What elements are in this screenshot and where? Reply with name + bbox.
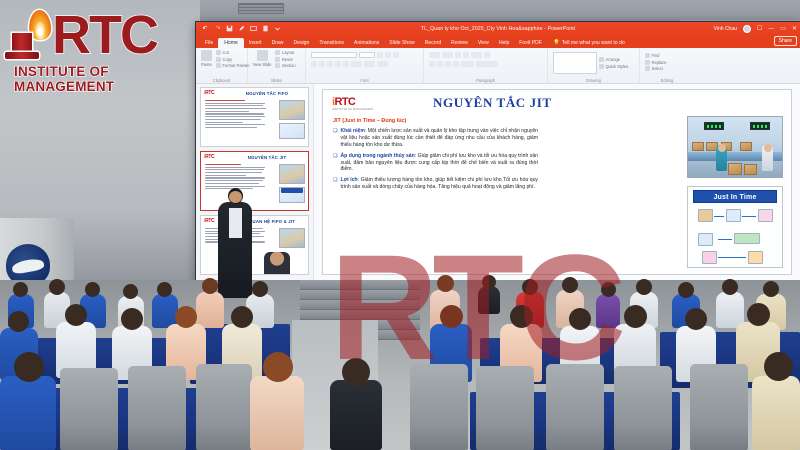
reset-icon: [275, 57, 280, 62]
ribbon-tab-bar[interactable]: File Home Insert Draw Design Transitions…: [196, 35, 800, 48]
paste-label: Paste: [201, 62, 211, 67]
brand-letters: RTC: [52, 8, 157, 62]
text-direction-button[interactable]: [484, 52, 490, 58]
thumb-text-lines: [205, 164, 267, 191]
irtc-logo: RTC INSTITUTE OF MANAGEMENT: [4, 6, 202, 84]
jit-arrow-4: [718, 257, 746, 258]
ribbon-group-slides[interactable]: New Slide Layout Reset Section Slides: [248, 48, 306, 83]
jit-node-supplier: [698, 209, 713, 222]
section-label: Section: [282, 63, 296, 68]
slide-logo: iRTC: [332, 96, 355, 108]
font-family-select[interactable]: [311, 52, 357, 58]
ribbon-group-font[interactable]: Font: [306, 48, 424, 83]
new-slide-label: New Slide: [253, 62, 271, 67]
thumb-jit-banner: [281, 188, 303, 193]
arrange-label: Arrange: [606, 57, 621, 62]
lightbulb-icon: 💡: [553, 40, 560, 46]
chair: [128, 366, 186, 450]
paste-button[interactable]: Paste: [201, 50, 212, 68]
thumb-logo: iRTC: [204, 218, 214, 224]
reset-button[interactable]: Reset: [275, 57, 295, 62]
align-center-button[interactable]: [437, 61, 443, 67]
chair: [614, 366, 672, 450]
powerpoint-title-bar: TL_Quan ly kho Oct_2025_Cty Vinh Hoa&sap…: [196, 22, 800, 35]
cut-label: Cut: [223, 50, 229, 55]
bullet-paragraph-2: ❏ Áp dụng trong ngành thủy sản: Giúp giả…: [333, 153, 538, 174]
find-label: Find: [652, 53, 660, 58]
layout-button[interactable]: Layout: [275, 50, 295, 55]
bullets-button[interactable]: [429, 52, 440, 58]
strikethrough-button[interactable]: [343, 61, 349, 67]
quick-styles-label: Quick Styles: [606, 64, 629, 69]
copy-label: Copy: [223, 57, 233, 62]
bullet-text: Khái niệm: Một chiến lược sản xuất và qu…: [340, 128, 538, 149]
find-button[interactable]: Find: [645, 53, 689, 58]
columns-button[interactable]: [461, 61, 474, 67]
tab-draw[interactable]: Draw: [267, 40, 289, 49]
tab-home[interactable]: Home: [218, 38, 244, 48]
shadow-button[interactable]: [335, 61, 341, 67]
group-label-font: Font: [306, 78, 423, 83]
thumb-presenter-overlay: [264, 252, 290, 274]
underline-button[interactable]: [327, 61, 333, 67]
ribbon-display-options-icon[interactable]: ☐: [757, 26, 762, 32]
audience-foreground: [0, 280, 800, 450]
increase-font-size-button[interactable]: [377, 52, 383, 58]
replace-label: Replace: [652, 60, 667, 65]
bullet-lead: Áp dụng trong ngành thủy sản: [340, 153, 414, 159]
flame-inner: [35, 22, 45, 36]
attendee: [752, 376, 800, 450]
chair: [196, 364, 252, 450]
jit-arrow-3: [718, 239, 732, 240]
format-painter-button[interactable]: Format Painter: [216, 63, 250, 68]
bullet-body: : Một chiến lược sản xuất và quản lý kho…: [340, 128, 538, 148]
worker-2: [762, 145, 773, 171]
convert-smartart-button[interactable]: [476, 61, 498, 67]
tell-me-label[interactable]: Tell me what you want to do: [562, 40, 625, 46]
tab-slide-show[interactable]: Slide Show: [384, 40, 419, 49]
attendee: [152, 294, 178, 328]
bullet-paragraph-3: ❏ Lợi ích: Giảm thiểu lượng hàng tồn kho…: [333, 177, 538, 191]
thumb-image: [279, 228, 305, 248]
tab-animations[interactable]: Animations: [349, 40, 384, 49]
tell-me-search[interactable]: 💡 Tell me what you want to do: [553, 40, 625, 49]
slide-title: NGUYÊN TẮC JIT: [433, 95, 552, 111]
font-row-1[interactable]: [311, 52, 418, 58]
thumb-image-2: [279, 123, 305, 139]
display-board-left: [704, 122, 724, 130]
attendee: [330, 380, 382, 450]
tab-view[interactable]: View: [473, 40, 494, 49]
slide-logo-subtitle: INSTITUTE OF MANAGEMENT: [332, 108, 374, 111]
paste-icon: [201, 50, 212, 61]
ribbon-group-drawing[interactable]: Arrange Quick Styles Drawing: [548, 48, 640, 83]
jit-node-order: [726, 209, 741, 222]
jit-node-customer: [758, 209, 773, 222]
ribbon-group-clipboard[interactable]: Paste Cut Copy Format Painter Clipboard: [196, 48, 248, 83]
ribbon[interactable]: Paste Cut Copy Format Painter Clipboard …: [196, 48, 800, 84]
tab-design[interactable]: Design: [288, 40, 314, 49]
paragraph-row-1[interactable]: [429, 52, 542, 58]
candle-base: [5, 52, 39, 59]
document-title: TL_Quan ly kho Oct_2025_Cty Vinh Hoa&sap…: [196, 26, 800, 32]
justify-button[interactable]: [453, 61, 459, 67]
layout-icon: [275, 50, 280, 55]
tab-review[interactable]: Review: [446, 40, 473, 49]
format-painter-label: Format Painter: [223, 63, 250, 68]
bold-button[interactable]: [311, 61, 317, 67]
new-slide-button[interactable]: New Slide: [253, 50, 271, 68]
thumb-logo: iRTC: [204, 90, 214, 96]
chair: [410, 364, 468, 450]
attendee: [196, 292, 224, 328]
select-button[interactable]: Select: [645, 66, 689, 71]
tab-foxit-pdf[interactable]: Foxit PDF: [514, 40, 547, 49]
arrange-button[interactable]: Arrange: [599, 57, 628, 62]
bullet-paragraph-1: ❏ Khái niệm: Một chiến lược sản xuất và …: [333, 128, 538, 149]
align-left-button[interactable]: [429, 61, 435, 67]
replace-icon: [645, 60, 650, 65]
layout-label: Layout: [282, 50, 294, 55]
paragraph-row-2[interactable]: [429, 61, 542, 67]
quick-styles-icon: [599, 64, 604, 69]
bullet-text: Lợi ích: Giảm thiểu lượng hàng tồn kho, …: [340, 177, 538, 191]
group-label-editing: Editing: [640, 78, 694, 83]
thumb-image: [279, 164, 305, 184]
tab-record[interactable]: Record: [420, 40, 446, 49]
attendee: [0, 376, 56, 450]
ribbon-group-paragraph[interactable]: Paragraph: [424, 48, 548, 83]
decrease-font-size-button[interactable]: [385, 52, 391, 58]
attendee: [250, 376, 304, 450]
search-icon: [645, 53, 650, 58]
attendee: [478, 286, 500, 314]
shapes-gallery[interactable]: [553, 52, 597, 74]
chair: [546, 364, 604, 450]
copy-button[interactable]: Copy: [216, 57, 250, 62]
worker-1: [716, 145, 727, 171]
jit-node-production: [734, 233, 760, 244]
slide-canvas[interactable]: iRTC INSTITUTE OF MANAGEMENT NGUYÊN TẮC …: [314, 84, 800, 282]
group-label-drawing: Drawing: [548, 78, 639, 83]
jit-node-delivery: [748, 251, 763, 264]
reset-label: Reset: [282, 57, 293, 62]
replace-button[interactable]: Replace: [645, 60, 689, 65]
chair: [690, 364, 748, 450]
ribbon-group-editing[interactable]: Find Replace Select Editing: [640, 48, 694, 83]
group-label-slides: Slides: [248, 78, 305, 83]
thumb-text-lines: [205, 100, 267, 130]
quick-styles-button[interactable]: Quick Styles: [599, 64, 628, 69]
decrease-indent-button[interactable]: [455, 52, 461, 58]
jit-node-stock: [698, 233, 713, 246]
new-slide-icon: [257, 50, 268, 61]
slide-thumbnail-panel[interactable]: iRTC NGUYÊN TẮC FIFO iRTC NGU: [196, 84, 314, 282]
section-icon: [275, 63, 280, 68]
current-slide[interactable]: iRTC INSTITUTE OF MANAGEMENT NGUYÊN TẮC …: [322, 89, 792, 275]
align-right-button[interactable]: [445, 61, 451, 67]
bullet-lead: Khái niệm: [340, 128, 364, 134]
scissors-icon: [216, 50, 221, 55]
group-label-clipboard: Clipboard: [196, 78, 247, 83]
bullet-marker: ❏: [333, 177, 337, 191]
tab-file[interactable]: File: [200, 40, 218, 49]
select-label: Select: [652, 66, 663, 71]
slide-thumbnail-2[interactable]: iRTC NGUYÊN TẮC JIT: [200, 151, 309, 211]
jit-diagram: Just In Time: [687, 186, 783, 268]
warehouse-photo: [687, 116, 783, 178]
character-spacing-button[interactable]: [351, 61, 362, 67]
group-label-paragraph: Paragraph: [424, 78, 547, 83]
cut-button[interactable]: Cut: [216, 50, 250, 55]
font-row-2[interactable]: [311, 61, 418, 67]
thumb-image: [279, 100, 305, 120]
section-button[interactable]: Section: [275, 63, 295, 68]
ceiling-vent: [238, 3, 284, 14]
account-name[interactable]: Vinh Chau: [714, 26, 737, 32]
line-spacing-button[interactable]: [471, 52, 482, 58]
tab-insert[interactable]: Insert: [244, 40, 267, 49]
presenter: [218, 202, 252, 298]
display-board-right: [750, 122, 770, 130]
share-area[interactable]: Share: [774, 29, 797, 47]
thumb-title: NGUYÊN TẮC FIFO: [229, 91, 305, 96]
slide-thumbnail-3[interactable]: iRTC MỐI QUAN HỆ FIFO & JIT: [200, 215, 309, 275]
paintbrush-icon: [216, 63, 221, 68]
jit-banner-label: Just In Time: [693, 190, 777, 203]
chair: [476, 366, 534, 450]
avatar[interactable]: [743, 25, 751, 33]
clear-formatting-button[interactable]: [393, 52, 399, 58]
brand-tagline: INSTITUTE OF MANAGEMENT: [14, 64, 202, 94]
thumb-title: NGUYÊN TẮC JIT: [229, 155, 305, 160]
bullet-lead: Lợi ích: [340, 177, 357, 183]
chair: [60, 368, 118, 450]
slide-thumbnail-1[interactable]: iRTC NGUYÊN TẮC FIFO: [200, 87, 309, 147]
jit-arrow-1: [714, 216, 724, 217]
bullet-marker: ❏: [333, 128, 337, 149]
font-size-select[interactable]: [359, 52, 375, 58]
change-case-button[interactable]: [364, 61, 375, 67]
attendee: [596, 294, 620, 328]
drawing-gallery[interactable]: Arrange Quick Styles: [553, 50, 634, 74]
jit-arrow-2: [742, 216, 756, 217]
numbering-button[interactable]: [442, 52, 453, 58]
screenshot-root: TL_Quan ly kho Oct_2025_Cty Vinh Hoa&sap…: [0, 0, 800, 450]
thumb-logo: iRTC: [204, 154, 214, 160]
italic-button[interactable]: [319, 61, 325, 67]
arrange-icon: [599, 57, 604, 62]
editor-body: iRTC NGUYÊN TẮC FIFO iRTC NGU: [196, 84, 800, 282]
share-button[interactable]: Share: [774, 36, 797, 46]
slide-body-text[interactable]: ❏ Khái niệm: Một chiến lược sản xuất và …: [333, 128, 538, 195]
slide-subtitle: JIT (Just in Time – Đúng lúc): [333, 118, 406, 124]
tab-help[interactable]: Help: [494, 40, 514, 49]
select-icon: [645, 66, 650, 71]
font-color-button[interactable]: [377, 61, 388, 67]
bullet-body: : Giảm thiểu lượng hàng tồn kho, giúp ti…: [340, 177, 538, 190]
increase-indent-button[interactable]: [463, 52, 469, 58]
jit-node-recycle: [702, 251, 717, 264]
copy-icon: [216, 57, 221, 62]
bullet-text: Áp dụng trong ngành thủy sản: Giúp giảm …: [340, 153, 538, 174]
tab-transitions[interactable]: Transitions: [314, 40, 349, 49]
bullet-marker: ❏: [333, 153, 337, 174]
projection-screen: TL_Quan ly kho Oct_2025_Cty Vinh Hoa&sap…: [196, 22, 800, 290]
